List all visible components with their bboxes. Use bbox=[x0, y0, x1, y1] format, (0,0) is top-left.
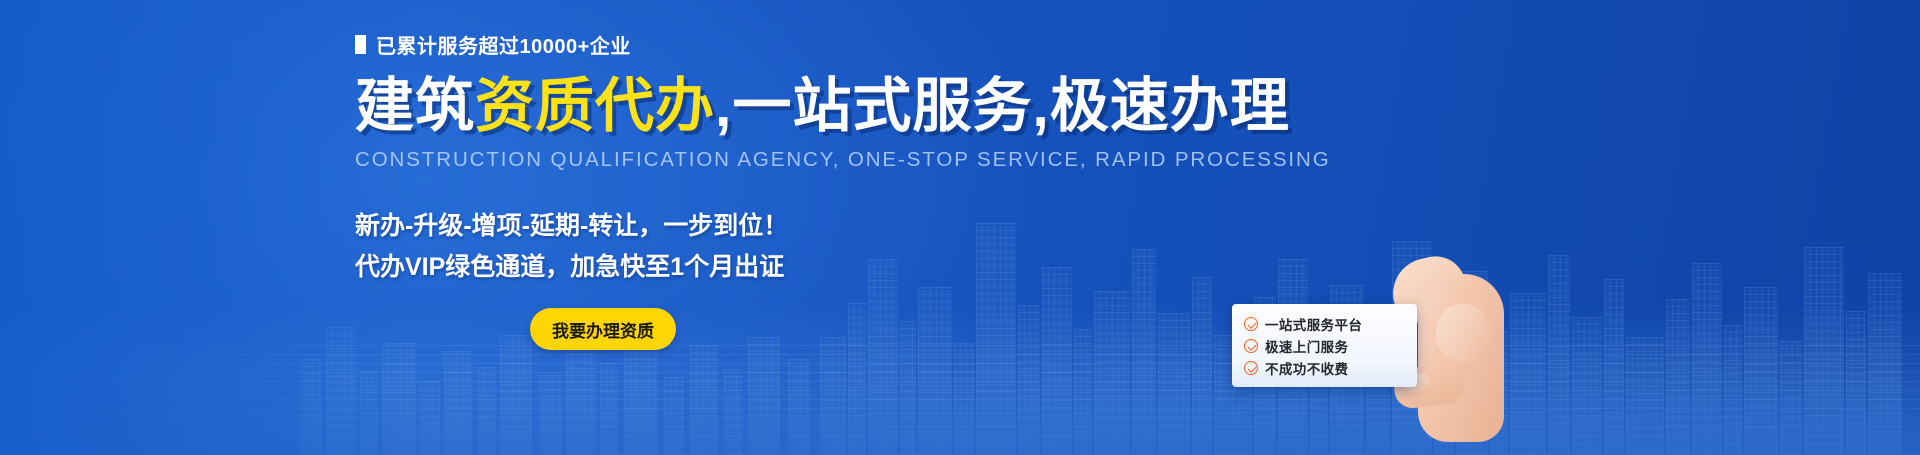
headline-part-white-1: 建筑 bbox=[355, 73, 475, 139]
check-circle-icon bbox=[1244, 361, 1258, 375]
check-circle-icon bbox=[1244, 317, 1258, 331]
apply-qualification-button[interactable]: 我要办理资质 bbox=[530, 308, 676, 350]
check-circle-icon bbox=[1244, 339, 1258, 353]
promise-item-label: 极速上门服务 bbox=[1265, 336, 1348, 356]
list-item: 不成功不收费 bbox=[1244, 357, 1417, 379]
feature-list: 新办-升级-增项-延期-转让，一步到位！ 代办VIP绿色通道，加急快至1个月出证 bbox=[355, 206, 1355, 289]
promise-item-label: 一站式服务平台 bbox=[1265, 314, 1362, 334]
promise-item-label: 不成功不收费 bbox=[1265, 358, 1348, 378]
headline-part-white-2: ,一站式服务,极速办理 bbox=[715, 73, 1290, 139]
page-title: 建筑资质代办,一站式服务,极速办理 bbox=[355, 75, 1355, 139]
promo-banner: 已累计服务超过10000+企业 建筑资质代办,一站式服务,极速办理 CONSTR… bbox=[0, 0, 1920, 455]
subtitle-english: CONSTRUCTION QUALIFICATION AGENCY, ONE-S… bbox=[355, 148, 1355, 172]
promise-card: 一站式服务平台 极速上门服务 不成功不收费 bbox=[1232, 304, 1417, 387]
feature-line-2: 代办VIP绿色通道，加急快至1个月出证 bbox=[355, 247, 1355, 289]
promise-card-group: 一站式服务平台 极速上门服务 不成功不收费 bbox=[1232, 300, 1492, 420]
eyebrow: 已累计服务超过10000+企业 bbox=[355, 30, 1355, 59]
list-item: 极速上门服务 bbox=[1244, 335, 1417, 357]
list-item: 一站式服务平台 bbox=[1244, 313, 1417, 335]
feature-line-1: 新办-升级-增项-延期-转让，一步到位！ bbox=[355, 206, 1355, 248]
square-bullet-icon bbox=[355, 35, 366, 54]
headline-part-yellow: 资质代办 bbox=[475, 73, 715, 139]
eyebrow-text: 已累计服务超过10000+企业 bbox=[376, 30, 631, 59]
banner-content: 已累计服务超过10000+企业 建筑资质代办,一站式服务,极速办理 CONSTR… bbox=[355, 0, 1355, 455]
